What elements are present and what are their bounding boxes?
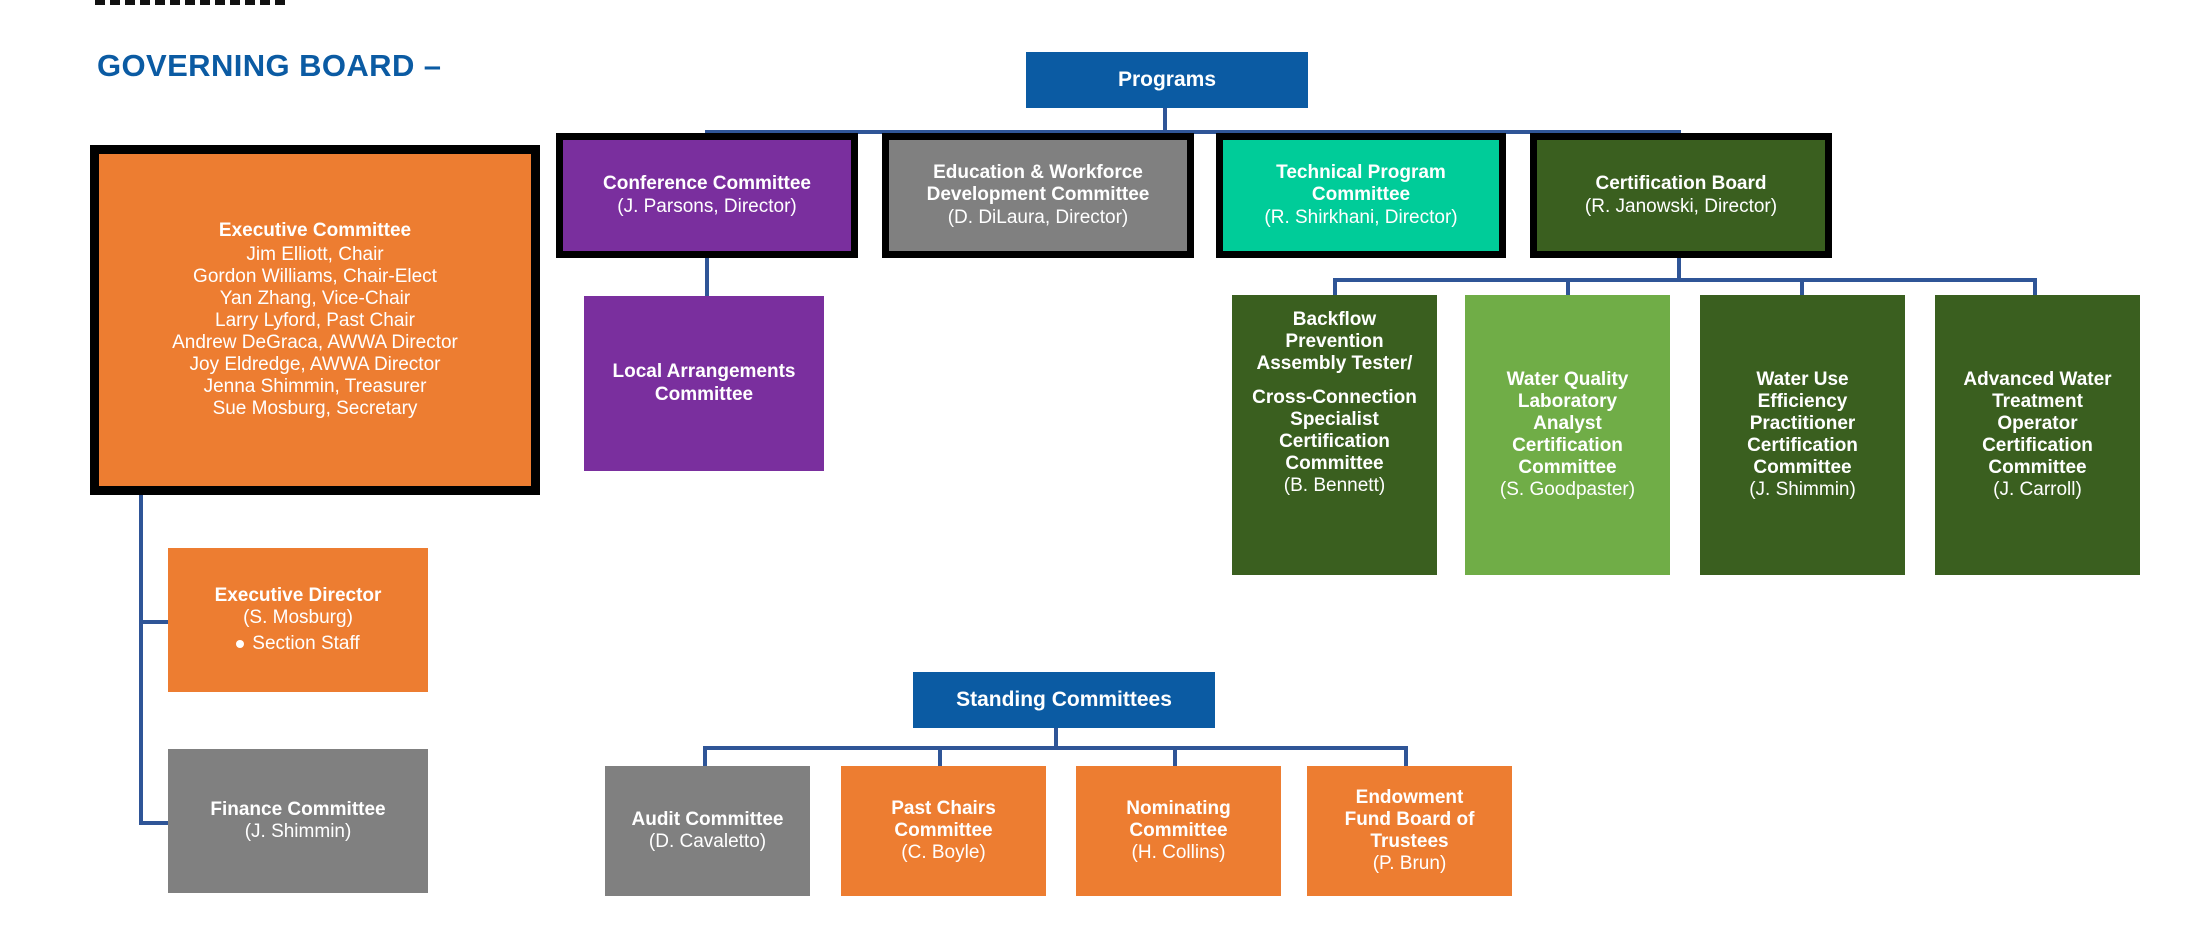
awt-title-line: Committee xyxy=(1988,457,2086,479)
wql-title-line: Analyst xyxy=(1533,413,1602,435)
nominating-title-line1: Nominating xyxy=(1126,798,1231,820)
awt-subtitle: (J. Carroll) xyxy=(1993,479,2082,501)
executive-director-title: Executive Director xyxy=(215,585,382,607)
node-executive-committee[interactable]: Executive Committee Jim Elliott, Chair G… xyxy=(90,145,540,495)
local-arrangements-title-line2: Committee xyxy=(655,384,753,406)
connector-certboard-bus xyxy=(1333,278,2033,282)
audit-committee-subtitle: (D. Cavaletto) xyxy=(649,831,766,853)
node-technical-program-committee[interactable]: Technical Program Committee (R. Shirkhan… xyxy=(1216,133,1506,258)
backflow-title-line: Prevention xyxy=(1285,331,1383,353)
past-chairs-subtitle: (C. Boyle) xyxy=(901,842,985,864)
executive-director-bullet-label: Section Staff xyxy=(252,633,359,655)
node-executive-director[interactable]: Executive Director (S. Mosburg) Section … xyxy=(168,548,428,692)
executive-committee-member: Jim Elliott, Chair xyxy=(246,244,383,266)
education-workforce-title-line1: Education & Workforce xyxy=(933,162,1143,184)
page-title: GOVERNING BOARD – xyxy=(97,48,441,84)
finance-committee-subtitle: (J. Shimmin) xyxy=(245,821,352,843)
connector-certboard-drop-wql xyxy=(1566,278,1570,295)
node-local-arrangements-committee[interactable]: Local Arrangements Committee xyxy=(584,296,824,471)
connector-certboard-drop-wue xyxy=(1800,278,1804,295)
node-backflow-prevention-committee[interactable]: Backflow Prevention Assembly Tester/ Cro… xyxy=(1232,295,1437,575)
node-water-quality-lab-committee[interactable]: Water Quality Laboratory Analyst Certifi… xyxy=(1465,295,1670,575)
connector-exec-rail xyxy=(139,529,143,825)
executive-committee-member: Larry Lyford, Past Chair xyxy=(215,310,415,332)
executive-committee-member: Andrew DeGraca, AWWA Director xyxy=(172,332,458,354)
connector-standing-stem xyxy=(1054,728,1058,748)
backflow-title-line2: Certification xyxy=(1279,431,1390,453)
wue-subtitle: (J. Shimmin) xyxy=(1749,479,1856,501)
endowment-title-line: Trustees xyxy=(1370,831,1448,853)
connector-standing-drop-pastchairs xyxy=(938,746,942,766)
wue-title-line: Efficiency xyxy=(1758,391,1848,413)
nominating-subtitle: (H. Collins) xyxy=(1132,842,1226,864)
technical-program-subtitle: (R. Shirkhani, Director) xyxy=(1264,207,1457,229)
backflow-title-line2: Cross-Connection xyxy=(1252,387,1417,409)
executive-committee-title: Executive Committee xyxy=(219,220,411,242)
backflow-subtitle: (B. Bennett) xyxy=(1284,475,1385,497)
node-endowment-fund-board[interactable]: Endowment Fund Board of Trustees (P. Bru… xyxy=(1307,766,1512,896)
node-certification-board[interactable]: Certification Board (R. Janowski, Direct… xyxy=(1530,133,1832,258)
wue-title-line: Water Use xyxy=(1756,369,1848,391)
connector-standing-drop-nominating xyxy=(1173,746,1177,766)
certification-board-subtitle: (R. Janowski, Director) xyxy=(1585,196,1777,218)
node-conference-committee[interactable]: Conference Committee (J. Parsons, Direct… xyxy=(556,133,858,258)
education-workforce-title-line2: Development Committee xyxy=(927,184,1150,206)
executive-committee-member: Jenna Shimmin, Treasurer xyxy=(204,376,427,398)
finance-committee-title: Finance Committee xyxy=(210,799,385,821)
backflow-title-line: Backflow xyxy=(1293,309,1376,331)
wql-title-line: Certification xyxy=(1512,435,1623,457)
executive-director-subtitle: (S. Mosburg) xyxy=(243,607,353,629)
technical-program-title-line1: Technical Program xyxy=(1276,162,1446,184)
backflow-title-line2: Specialist xyxy=(1290,409,1379,431)
node-past-chairs-committee[interactable]: Past Chairs Committee (C. Boyle) xyxy=(841,766,1046,896)
connector-programs-stem xyxy=(1163,108,1167,132)
education-workforce-subtitle: (D. DiLaura, Director) xyxy=(948,207,1129,229)
wql-subtitle: (S. Goodpaster) xyxy=(1500,479,1635,501)
node-advanced-water-treatment-committee[interactable]: Advanced Water Treatment Operator Certif… xyxy=(1935,295,2140,575)
node-education-workforce-committee[interactable]: Education & Workforce Development Commit… xyxy=(882,133,1194,258)
programs-title: Programs xyxy=(1118,68,1216,92)
certification-board-title: Certification Board xyxy=(1595,173,1766,195)
connector-standing-drop-audit xyxy=(703,746,707,766)
connector-exec-stem xyxy=(139,492,143,529)
connector-finance xyxy=(139,821,169,825)
awt-title-line: Treatment xyxy=(1992,391,2083,413)
connector-standing-drop-endowment xyxy=(1404,746,1408,766)
awt-title-line: Operator xyxy=(1997,413,2077,435)
connector-certboard-drop-backflow xyxy=(1333,278,1337,295)
node-standing-committees[interactable]: Standing Committees xyxy=(913,672,1215,728)
wql-title-line: Committee xyxy=(1518,457,1616,479)
conference-committee-subtitle: (J. Parsons, Director) xyxy=(617,196,796,218)
endowment-title-line: Endowment xyxy=(1356,787,1464,809)
executive-director-bullet-row: Section Staff xyxy=(236,633,359,655)
connector-certboard-stem xyxy=(1677,258,1681,280)
node-nominating-committee[interactable]: Nominating Committee (H. Collins) xyxy=(1076,766,1281,896)
executive-committee-member: Gordon Williams, Chair-Elect xyxy=(193,266,437,288)
endowment-title-line: Fund Board of xyxy=(1345,809,1475,831)
connector-exec-director xyxy=(139,620,169,624)
bullet-icon xyxy=(236,640,244,648)
top-dashed-divider xyxy=(95,0,285,5)
nominating-title-line2: Committee xyxy=(1129,820,1227,842)
executive-committee-member: Joy Eldredge, AWWA Director xyxy=(190,354,441,376)
wue-title-line: Practitioner xyxy=(1750,413,1856,435)
wql-title-line: Laboratory xyxy=(1518,391,1617,413)
wql-title-line: Water Quality xyxy=(1507,369,1629,391)
node-audit-committee[interactable]: Audit Committee (D. Cavaletto) xyxy=(605,766,810,896)
endowment-subtitle: (P. Brun) xyxy=(1373,853,1447,875)
node-water-use-efficiency-committee[interactable]: Water Use Efficiency Practitioner Certif… xyxy=(1700,295,1905,575)
node-finance-committee[interactable]: Finance Committee (J. Shimmin) xyxy=(168,749,428,893)
awt-title-line: Advanced Water xyxy=(1963,369,2111,391)
past-chairs-title-line2: Committee xyxy=(894,820,992,842)
wue-title-line: Certification xyxy=(1747,435,1858,457)
executive-committee-member: Sue Mosburg, Secretary xyxy=(213,398,418,420)
backflow-title-line: Assembly Tester/ xyxy=(1257,353,1413,375)
awt-title-line: Certification xyxy=(1982,435,2093,457)
connector-conference-local xyxy=(705,257,709,296)
conference-committee-title: Conference Committee xyxy=(603,173,811,195)
node-programs[interactable]: Programs xyxy=(1026,52,1308,108)
backflow-title-line2: Committee xyxy=(1285,453,1383,475)
local-arrangements-title-line1: Local Arrangements xyxy=(612,361,795,383)
standing-committees-title: Standing Committees xyxy=(956,688,1172,712)
wue-title-line: Committee xyxy=(1753,457,1851,479)
technical-program-title-line2: Committee xyxy=(1312,184,1410,206)
connector-certboard-drop-awt xyxy=(2033,278,2037,295)
past-chairs-title-line1: Past Chairs xyxy=(891,798,996,820)
connector-standing-bus xyxy=(703,746,1408,750)
org-chart-canvas: GOVERNING BOARD – Executive Committee Ji… xyxy=(0,0,2200,945)
executive-committee-member: Yan Zhang, Vice-Chair xyxy=(220,288,410,310)
audit-committee-title: Audit Committee xyxy=(632,809,784,831)
